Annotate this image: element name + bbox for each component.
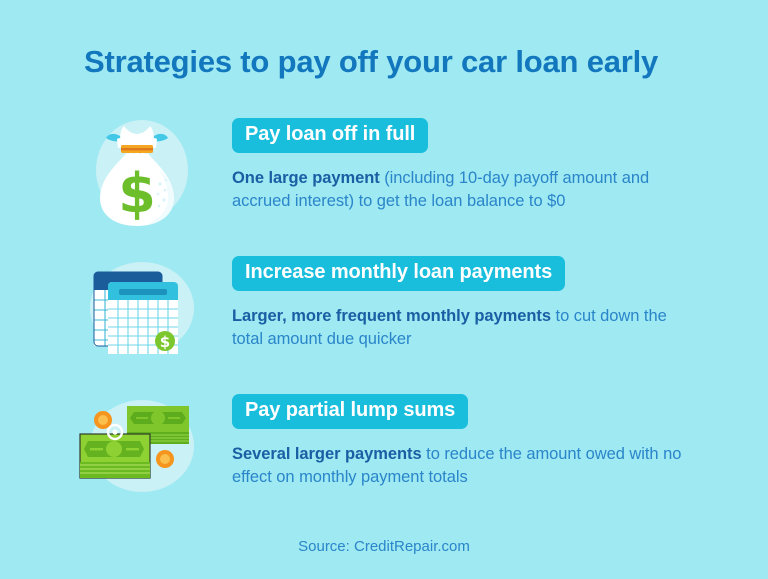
page-title: Strategies to pay off your car loan earl… [84, 44, 724, 80]
svg-text:$: $ [160, 333, 170, 351]
strategy-lead-3: Several larger payments [232, 445, 422, 463]
strategy-row-2: $ Increase monthly loan payments Larger,… [72, 256, 712, 376]
strategy-lead-2: Larger, more frequent monthly payments [232, 307, 551, 325]
strategy-description-2: Larger, more frequent monthly payments t… [232, 305, 692, 352]
svg-text:$: $ [118, 162, 156, 225]
calendar-glyph: $ [72, 256, 202, 371]
strategy-description-1: One large payment (including 10-day payo… [232, 167, 692, 214]
strategy-content-2: Increase monthly loan payments Larger, m… [232, 256, 712, 352]
strategy-content-3: Pay partial lump sums Several larger pay… [232, 394, 712, 490]
money-bag-glyph: $ [72, 118, 202, 233]
strategy-content-1: Pay loan off in full One large payment (… [232, 118, 712, 214]
strategy-badge-1: Pay loan off in full [232, 118, 428, 153]
strategy-lead-1: One large payment [232, 169, 380, 187]
strategy-description-3: Several larger payments to reduce the am… [232, 443, 692, 490]
source-attribution: Source: CreditRepair.com [0, 538, 768, 555]
strategy-row-3: Pay partial lump sums Several larger pay… [72, 394, 712, 514]
banknotes-glyph [72, 394, 202, 509]
calendar-icon: $ [72, 256, 202, 371]
banknotes-icon [72, 394, 202, 509]
money-bag-icon: $ [72, 118, 202, 233]
infographic-canvas: Strategies to pay off your car loan earl… [0, 0, 768, 579]
strategy-badge-2: Increase monthly loan payments [232, 256, 565, 291]
strategy-row-1: $ Pay loan off in full One large payment… [72, 118, 712, 238]
strategy-badge-3: Pay partial lump sums [232, 394, 468, 429]
